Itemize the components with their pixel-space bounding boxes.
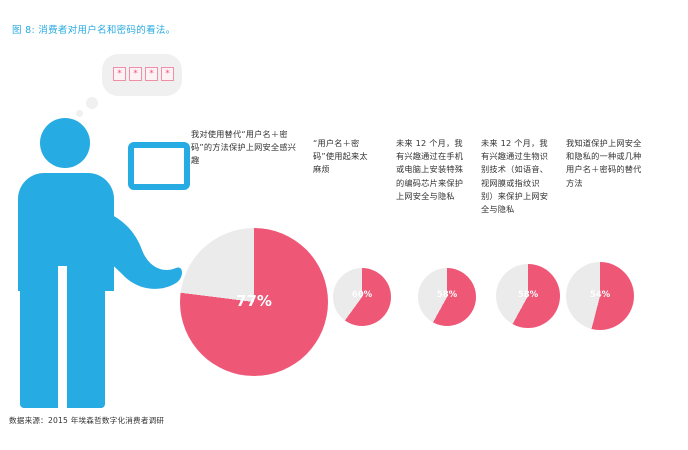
password-mask-char: * [129,67,142,81]
person-leg-right-icon [67,286,105,408]
pie-caption-3: 未来 12 个月，我有兴趣通过生物识别技术（如语音、视网膜或指纹识别）来保护上网… [481,137,551,216]
person-leg-gap [58,266,67,406]
pie-caption-4: 我知道保护上网安全和隐私的一种或几种用户名＋密码的替代方法 [566,137,646,190]
thought-bubble-dot-large-icon [86,97,98,109]
pie-value-label-1: 60% [333,290,391,300]
tablet-screen-icon [128,142,190,190]
figure-title: 图 8: 消费者对用户名和密码的看法。 [12,22,176,36]
pie-caption-1: “用户名＋密码”使用起来太麻烦 [313,137,375,177]
person-with-tablet-icon [18,118,178,388]
pie-value-label-3: 58% [496,290,560,300]
figure-title-text: 图 8: 消费者对用户名和密码的看法。 [12,22,176,36]
figure-canvas: 图 8: 消费者对用户名和密码的看法。 * * * * 我对使用替代“用户名＋密… [0,0,688,450]
pie-value-label-2: 58% [418,290,476,300]
password-mask-group: * * * * [113,67,174,81]
pie-caption-0: 我对使用替代“用户名＋密码”的方法保护上网安全感兴趣 [191,128,301,168]
thought-bubble-dot-small-icon [76,110,83,117]
password-mask-char: * [161,67,174,81]
password-mask-char: * [113,67,126,81]
pie-value-label-4: 54% [566,290,634,300]
pie-caption-2: 未来 12 个月，我有兴趣通过在手机或电脑上安装特殊的编码芯片来保护上网安全与隐… [396,137,466,203]
person-leg-left-icon [20,286,58,408]
person-head-icon [40,118,90,168]
person-arm-icon [76,204,184,300]
source-note: 数据来源：2015 年埃森哲数字化消费者调研 [9,415,164,426]
pie-value-label-0: 77% [180,292,328,310]
password-mask-char: * [145,67,158,81]
